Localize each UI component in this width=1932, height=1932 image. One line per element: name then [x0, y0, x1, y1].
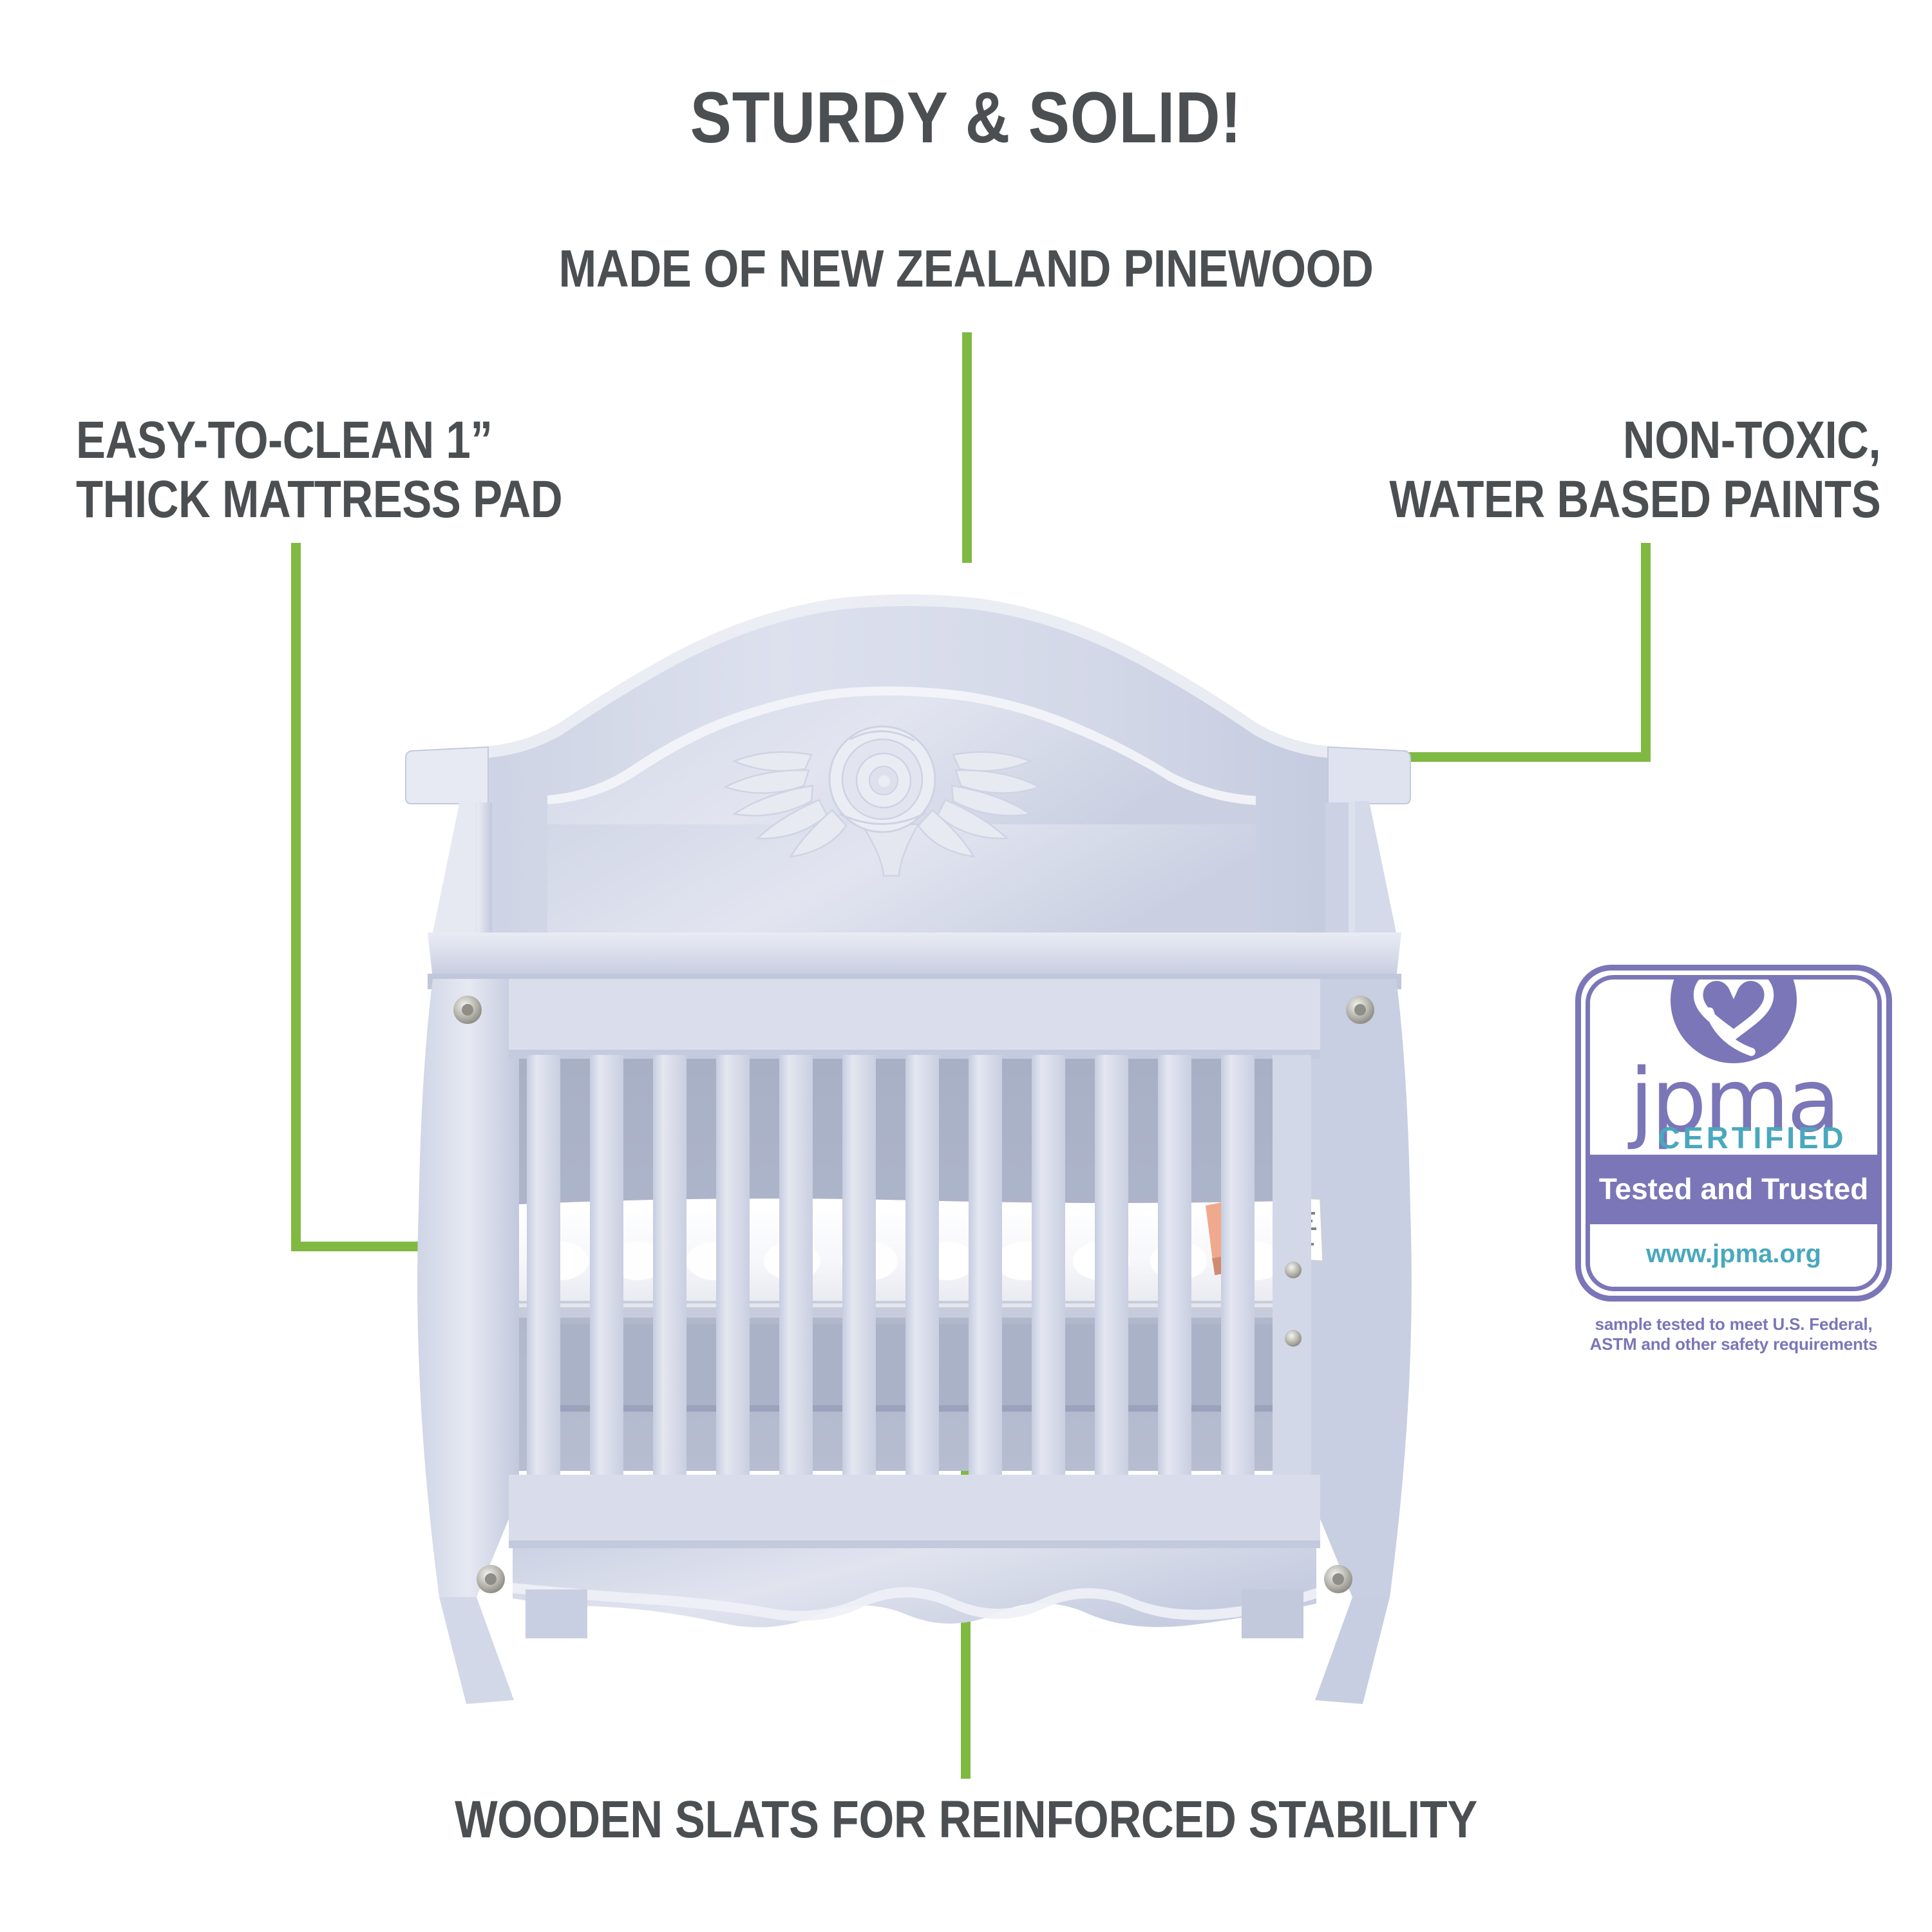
jpma-fineprint: sample tested to meet U.S. Federal, ASTM… [1575, 1314, 1892, 1354]
leader-line-mattress-vertical [291, 543, 301, 1251]
crib-left-post [417, 979, 519, 1597]
callout-label-mattress-pad: EASY-TO-CLEAN 1” THICK MATTRESS PAD [76, 411, 562, 529]
crib-outer-leg-right [1315, 1597, 1390, 1704]
product-image-crib [399, 554, 1558, 1719]
jpma-certified-badge[interactable]: jpma CERTIFIED Tested and Trusted www.jp… [1575, 965, 1892, 1354]
jpma-url[interactable]: www.jpma.org [1590, 1224, 1877, 1287]
screw-icon [477, 1565, 505, 1593]
crib-inner-leg-right [1242, 1589, 1303, 1638]
callout-label-water-based-paints: NON-TOXIC, WATER BASED PAINTS [1389, 411, 1880, 529]
leader-line-paints-vertical [1641, 543, 1651, 762]
crib-outer-leg-left [439, 1597, 514, 1704]
crib-headboard [406, 568, 1410, 952]
page-title: STURDY & SOLID! [135, 77, 1797, 158]
screw-icon [453, 996, 482, 1024]
crib-scalloped-skirt [513, 1548, 1316, 1627]
jpma-certified-text: CERTIFIED [1627, 1126, 1877, 1151]
screw-icon [1285, 1330, 1302, 1347]
leader-line-pinewood [962, 332, 972, 563]
crib-right-post [1310, 979, 1412, 1597]
callout-label-pinewood: MADE OF NEW ZEALAND PINEWOOD [135, 240, 1797, 299]
screw-icon [1324, 1565, 1352, 1593]
crib-inner-leg-left [526, 1589, 587, 1638]
callout-label-wooden-slats: WOODEN SLATS FOR REINFORCED STABILITY [135, 1790, 1797, 1850]
screw-icon [1285, 1262, 1302, 1278]
jpma-tagline: Tested and Trusted [1590, 1155, 1877, 1224]
screw-icon [1346, 996, 1374, 1024]
